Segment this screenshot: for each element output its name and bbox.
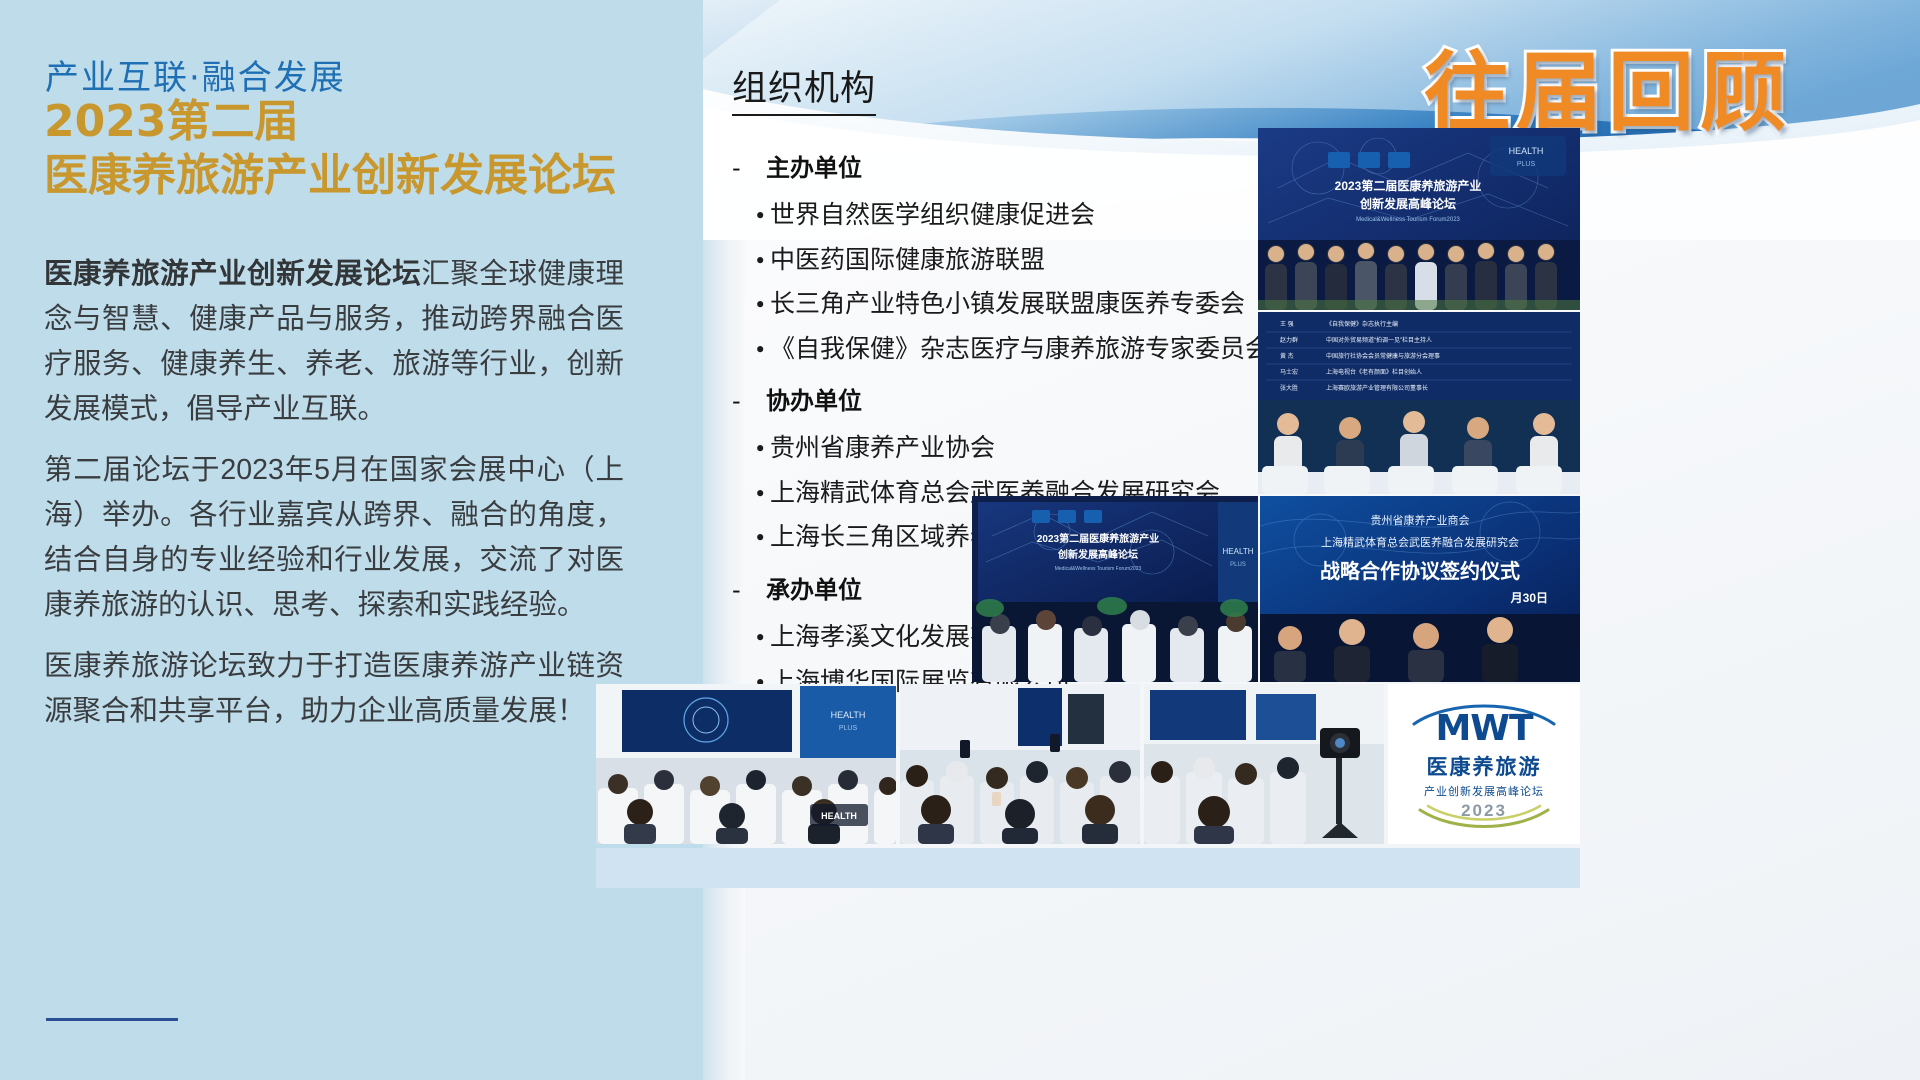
dash-marker: - bbox=[732, 150, 766, 187]
svg-text:创新发展高峰论坛: 创新发展高峰论坛 bbox=[1057, 548, 1138, 561]
svg-text:HEALTH: HEALTH bbox=[831, 710, 866, 720]
svg-text:月30日: 月30日 bbox=[1510, 591, 1548, 605]
svg-text:黄 杰: 黄 杰 bbox=[1280, 352, 1294, 360]
org-item-text: 贵州省康养产业协会 bbox=[770, 428, 995, 469]
intro-paragraph-1: 医康养旅游产业创新发展论坛汇聚全球健康理念与智慧、健康产品与服务，推动跨界融合医… bbox=[44, 252, 624, 432]
photo-audience-phones bbox=[900, 684, 1140, 844]
mwt-subtitle: 产业创新发展高峰论坛 bbox=[1424, 783, 1544, 799]
photo-speaker-grid: 王 强《自我保健》杂志执行主编 赵力群中国对外贸易频道“拍调一见”栏目主持人 黄… bbox=[1258, 312, 1580, 494]
dash-marker: - bbox=[732, 383, 766, 420]
slide-root: 往届回顾 往届回顾 产业互联·融合发展 2023第二届 医康养旅游产业创新发展论… bbox=[0, 0, 1920, 1080]
bullet-icon: • bbox=[732, 521, 770, 555]
svg-text:2023第二届医康养旅游产业: 2023第二届医康养旅游产业 bbox=[1335, 178, 1482, 193]
svg-text:上海赛欧旅游产业管理有限公司董事长: 上海赛欧旅游产业管理有限公司董事长 bbox=[1326, 384, 1428, 392]
svg-text:中国旅行社协会会员常健康与旅游分会理事: 中国旅行社协会会员常健康与旅游分会理事 bbox=[1326, 352, 1440, 360]
bullet-icon: • bbox=[732, 477, 770, 511]
mwt-chinese-name: 医康养旅游 bbox=[1427, 751, 1542, 781]
svg-text:PLUS: PLUS bbox=[839, 725, 858, 732]
organization-heading: 组织机构 bbox=[732, 60, 876, 116]
event-title-line1: 2023第二届 bbox=[44, 95, 704, 149]
svg-text:《自我保健》杂志执行主编: 《自我保健》杂志执行主编 bbox=[1326, 320, 1398, 328]
left-info-panel: 产业互联·融合发展 2023第二届 医康养旅游产业创新发展论坛 医康养旅游产业创… bbox=[0, 0, 703, 1080]
org-item-text: 长三角产业特色小镇发展联盟康医养专委会 bbox=[770, 284, 1245, 325]
intro-paragraph-3: 医康养旅游论坛致力于打造医康养游产业链资源聚合和共享平台，助力企业高质量发展！ bbox=[44, 644, 624, 734]
mwt-mark: MWT bbox=[1435, 708, 1532, 749]
bullet-icon: • bbox=[732, 244, 770, 278]
svg-text:创新发展高峰论坛: 创新发展高峰论坛 bbox=[1359, 196, 1456, 211]
svg-text:2023第二届医康养旅游产业: 2023第二届医康养旅游产业 bbox=[1037, 532, 1159, 545]
bullet-icon: • bbox=[732, 288, 770, 322]
svg-text:HEALTH: HEALTH bbox=[821, 811, 857, 821]
svg-text:王 强: 王 强 bbox=[1280, 321, 1294, 328]
intro-lead-bold: 医康养旅游产业创新发展论坛 bbox=[44, 258, 421, 290]
svg-text:PLUS: PLUS bbox=[1517, 161, 1536, 168]
event-title-line2: 医康养旅游产业创新发展论坛 bbox=[44, 149, 704, 203]
photo-signing-ceremony: 贵州省康养产业商会 上海精武体育总会武医养融合发展研究会 战略合作协议签约仪式 … bbox=[1260, 496, 1580, 682]
svg-text:马士宏: 马士宏 bbox=[1280, 368, 1298, 376]
photo-mwt-logo-card: MWT 医康养旅游 产业创新发展高峰论坛 2023 bbox=[1388, 684, 1580, 844]
org-item-text: 世界自然医学组织健康促进会 bbox=[770, 195, 1095, 236]
svg-text:上海电视台《老有颜面》栏目创始人: 上海电视台《老有颜面》栏目创始人 bbox=[1326, 368, 1422, 376]
bullet-icon: • bbox=[732, 333, 770, 367]
org-group-label: 主办单位 bbox=[766, 150, 862, 187]
svg-text:Medical&Wellness Tourism Forum: Medical&Wellness Tourism Forum2023 bbox=[1356, 217, 1460, 223]
org-item-text: 《自我保健》杂志医疗与康养旅游专家委员会 bbox=[770, 329, 1270, 370]
bottom-rule bbox=[46, 1018, 178, 1021]
dash-marker: - bbox=[732, 572, 766, 609]
photo-forum-stage-wide: 2023第二届医康养旅游产业 创新发展高峰论坛 Medical&Wellness… bbox=[972, 496, 1258, 682]
bullet-icon: • bbox=[732, 621, 770, 655]
svg-text:PLUS: PLUS bbox=[1230, 562, 1246, 568]
svg-text:上海精武体育总会武医养融合发展研究会: 上海精武体育总会武医养融合发展研究会 bbox=[1321, 535, 1519, 549]
event-title: 2023第二届 医康养旅游产业创新发展论坛 bbox=[44, 95, 704, 202]
org-item-text: 中医药国际健康旅游联盟 bbox=[770, 240, 1045, 281]
svg-text:中国对外贸易频道“拍调一见”栏目主持人: 中国对外贸易频道“拍调一见”栏目主持人 bbox=[1326, 336, 1432, 344]
svg-text:Medical&Wellness Tourism Forum: Medical&Wellness Tourism Forum2023 bbox=[1055, 566, 1142, 572]
org-group-label: 承办单位 bbox=[766, 572, 862, 609]
kicker-text: 产业互联·融合发展 bbox=[45, 50, 346, 99]
svg-text:贵州省康养产业商会: 贵州省康养产业商会 bbox=[1371, 513, 1470, 527]
svg-text:HEALTH: HEALTH bbox=[1223, 547, 1254, 556]
photo-group-photo-stage: HEALTH PLUS 2023第二届医康养旅游产业 创新发展高峰论坛 Medi… bbox=[1258, 128, 1580, 310]
bullet-icon: • bbox=[732, 199, 770, 233]
intro-body: 医康养旅游产业创新发展论坛汇聚全球健康理念与智慧、健康产品与服务，推动跨界融合医… bbox=[44, 252, 624, 750]
intro-paragraph-2: 第二届论坛于2023年5月在国家会展中心（上海）举办。各行业嘉宾从跨界、融合的角… bbox=[44, 448, 624, 628]
svg-text:HEALTH: HEALTH bbox=[1509, 146, 1544, 156]
org-group-label: 协办单位 bbox=[766, 383, 862, 420]
bottom-accent-bar bbox=[596, 848, 1580, 888]
photo-audience-hall: HEALTH PLUS bbox=[596, 684, 896, 844]
photo-press-camera bbox=[1144, 684, 1384, 844]
bullet-icon: • bbox=[732, 432, 770, 466]
svg-text:赵力群: 赵力群 bbox=[1280, 336, 1298, 344]
mwt-year: 2023 bbox=[1461, 801, 1507, 821]
mwt-logo-content: MWT 医康养旅游 产业创新发展高峰论坛 2023 bbox=[1388, 684, 1580, 844]
svg-text:战略合作协议签约仪式: 战略合作协议签约仪式 bbox=[1320, 559, 1520, 583]
svg-text:张大胜: 张大胜 bbox=[1280, 384, 1298, 392]
